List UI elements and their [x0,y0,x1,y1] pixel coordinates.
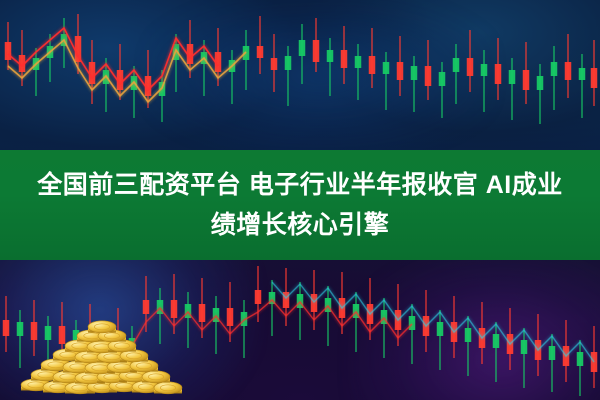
headline-text-block: 全国前三配资平台 电子行业半年报收官 AI成业 绩增长核心引擎 [0,150,600,260]
candle-body [257,46,264,58]
candle-body [3,320,10,336]
candle-body [45,326,52,340]
candle-body [355,56,362,68]
trend-line [8,28,218,90]
candle-body [495,64,502,84]
candle-body [5,42,12,60]
headline-line-1: 全国前三配资平台 电子行业半年报收官 AI成业 [37,165,562,205]
candle-body [509,70,516,84]
candle-body [521,340,528,354]
candle-body [73,330,80,344]
candle-body [143,300,150,314]
candle-body [439,72,446,86]
candle-body [227,308,234,326]
candle-body [285,56,292,70]
candle-body [493,334,500,348]
trend-line [272,282,594,362]
candle-body [31,322,38,340]
candle-body [537,76,544,90]
candle-body [481,64,488,76]
headline-line-2: 绩增长核心引擎 [211,205,390,245]
candle-body [453,58,460,72]
trend-line [8,40,246,102]
headline-banner: 全国前三配资平台 电子行业半年报收官 AI成业 绩增长核心引擎 [0,150,600,260]
candle-body [171,300,178,318]
candle-body [425,66,432,86]
candle-body [591,68,598,88]
candle-body [341,50,348,68]
candle-body [311,294,318,312]
candle-body [465,328,472,342]
candle-body [199,304,206,322]
candle-body [549,346,556,360]
candle-body [523,70,530,90]
candle-group-top [5,14,598,124]
candle-body [579,68,586,80]
candle-body [101,334,108,348]
candle-body [369,56,376,74]
cover-image: 全国前三配资平台 电子行业半年报收官 AI成业 绩增长核心引擎 [0,0,600,400]
candle-body [271,58,278,70]
candle-body [577,352,584,366]
candle-body [437,322,444,336]
candle-body [565,62,572,80]
candle-body [115,334,122,352]
candle-body [467,58,474,76]
candle-body [409,316,416,330]
candle-body [59,326,66,344]
candle-group-bottom [3,266,598,396]
candle-body [17,322,24,336]
candle-body [327,50,334,62]
candle-body [397,62,404,80]
candle-body [313,40,320,62]
candle-body [87,330,94,348]
candle-body [299,40,306,56]
candle-body [411,66,418,80]
candle-body [383,62,390,74]
candle-body [255,290,262,304]
candle-body [551,62,558,76]
